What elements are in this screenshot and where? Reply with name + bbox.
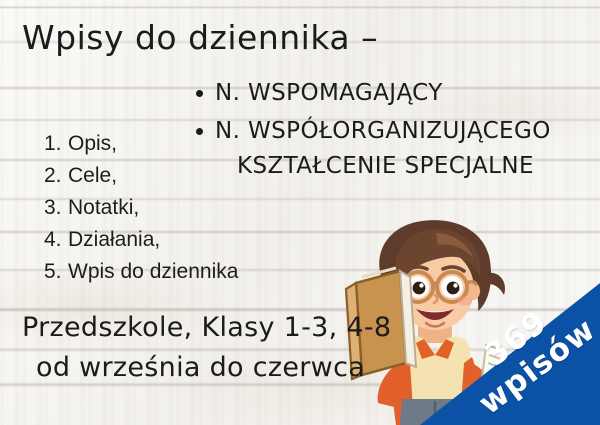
list-item: 4. Działania, (44, 224, 238, 256)
pupil-right (447, 282, 460, 295)
list-item: 5. Wpis do dziennika (44, 256, 238, 288)
list-item-number: 4. (44, 224, 68, 256)
list-item-number: 1. (44, 128, 68, 160)
bullet-line-2: KSZTAŁCENIE SPECJALNE (237, 151, 551, 182)
list-item-number: 3. (44, 192, 68, 224)
list-item: 3. Notatki, (44, 192, 238, 224)
bullet-line-1: N. WSPÓŁORGANIZUJĄCEGO (215, 118, 551, 144)
poster-canvas: Wpisy do dziennika – N. WSPOMAGAJĄCY N. … (0, 0, 600, 425)
list-item-number: 5. (44, 256, 68, 288)
bullet-dot-icon (196, 90, 203, 97)
cheek-right (458, 296, 472, 305)
bullet-item-label: N. WSPOMAGAJĄCY (215, 78, 443, 109)
bottom-line-2: od września do czerwca (36, 348, 391, 388)
steps-numbered-list: 1. Opis, 2. Cele, 3. Notatki, 4. Działan… (44, 128, 238, 288)
list-item-label: Działania, (68, 224, 160, 256)
list-item: 2. Cele, (44, 160, 238, 192)
page-title: Wpisy do dziennika – (22, 18, 378, 57)
list-item-number: 2. (44, 160, 68, 192)
list-item-label: Cele, (68, 160, 117, 192)
list-item-label: Wpis do dziennika (68, 256, 238, 288)
list-item: 1. Opis, (44, 128, 238, 160)
bullet-item-label: N. WSPÓŁORGANIZUJĄCEGO KSZTAŁCENIE SPECJ… (215, 116, 551, 182)
roles-bullet-list: N. WSPOMAGAJĄCY N. WSPÓŁORGANIZUJĄCEGO K… (196, 78, 596, 189)
list-item-label: Opis, (68, 128, 117, 160)
pupil-left (413, 282, 426, 295)
bottom-line-1: Przedszkole, Klasy 1-3, 4-8 (22, 308, 391, 348)
list-item-label: Notatki, (68, 192, 139, 224)
eye-glint-left (419, 283, 423, 287)
bottom-text-block: Przedszkole, Klasy 1-3, 4-8 od września … (22, 308, 391, 388)
eye-glint-right (453, 283, 457, 287)
list-item: N. WSPOMAGAJĄCY (196, 78, 596, 109)
pants (400, 399, 474, 425)
bullet-line-1: N. WSPOMAGAJĄCY (215, 80, 443, 106)
list-item: N. WSPÓŁORGANIZUJĄCEGO KSZTAŁCENIE SPECJ… (196, 116, 596, 182)
